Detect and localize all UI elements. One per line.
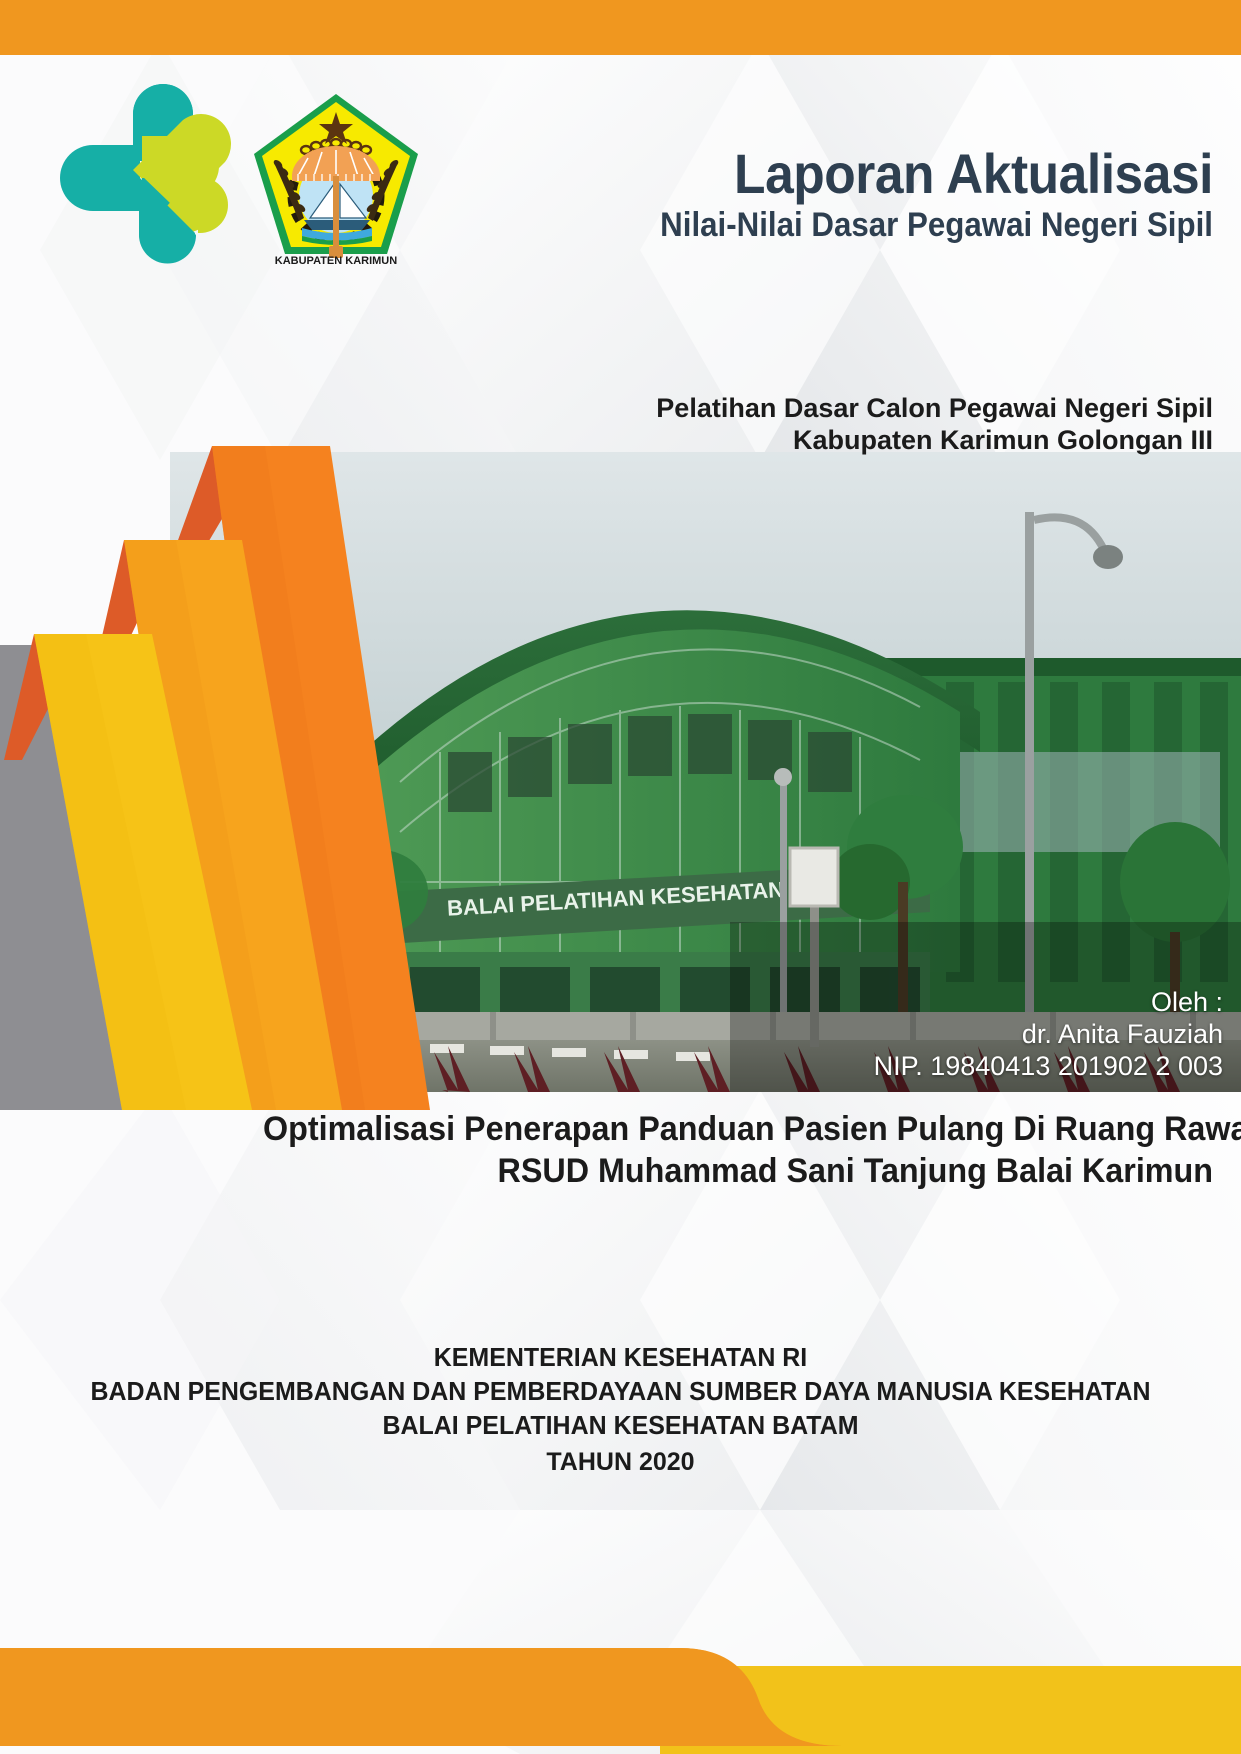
footer-institution: BALAI PELATIHAN KESEHATAN BATAM xyxy=(25,1408,1216,1442)
top-orange-bar xyxy=(0,0,1241,55)
report-title-line-2: RSUD Muhammad Sani Tanjung Balai Karimun xyxy=(263,1150,1213,1192)
document-cover-page: KABUPATEN KARIMUN Laporan Aktualisasi Ni… xyxy=(0,0,1241,1754)
footer-agency: BADAN PENGEMBANGAN DAN PEMBERDAYAAN SUMB… xyxy=(25,1374,1216,1408)
report-title-line-1: Optimalisasi Penerapan Panduan Pasien Pu… xyxy=(263,1108,1213,1150)
author-nip: NIP. 19840413 201902 2 003 xyxy=(874,1050,1223,1082)
page-title-block: Laporan Aktualisasi Nilai-Nilai Dasar Pe… xyxy=(453,145,1213,245)
report-title-block: Optimalisasi Penerapan Panduan Pasien Pu… xyxy=(213,1108,1213,1192)
bottom-color-bar xyxy=(0,1640,1241,1754)
karimun-emblem-icon: KABUPATEN KARIMUN xyxy=(248,88,424,280)
author-label: Oleh : xyxy=(874,986,1223,1018)
program-line-2: Kabupaten Karimun Golongan III xyxy=(393,424,1213,456)
footer-ministry: KEMENTERIAN KESEHATAN RI xyxy=(25,1340,1216,1374)
program-block: Pelatihan Dasar Calon Pegawai Negeri Sip… xyxy=(393,392,1213,456)
page-title: Laporan Aktualisasi xyxy=(514,145,1213,203)
author-block: Oleh : dr. Anita Fauziah NIP. 19840413 2… xyxy=(874,986,1223,1082)
program-line-1: Pelatihan Dasar Calon Pegawai Negeri Sip… xyxy=(393,392,1213,424)
author-name: dr. Anita Fauziah xyxy=(874,1018,1223,1050)
institution-footer-block: KEMENTERIAN KESEHATAN RI BADAN PENGEMBAN… xyxy=(0,1340,1241,1482)
diagonal-bands-decoration xyxy=(0,430,430,1110)
kemenkes-logo-icon xyxy=(48,78,233,268)
footer-year: TAHUN 2020 xyxy=(0,1442,1241,1482)
karimun-emblem-caption: KABUPATEN KARIMUN xyxy=(275,255,397,267)
page-subtitle: Nilai-Nilai Dasar Pegawai Negeri Sipil xyxy=(514,205,1213,245)
